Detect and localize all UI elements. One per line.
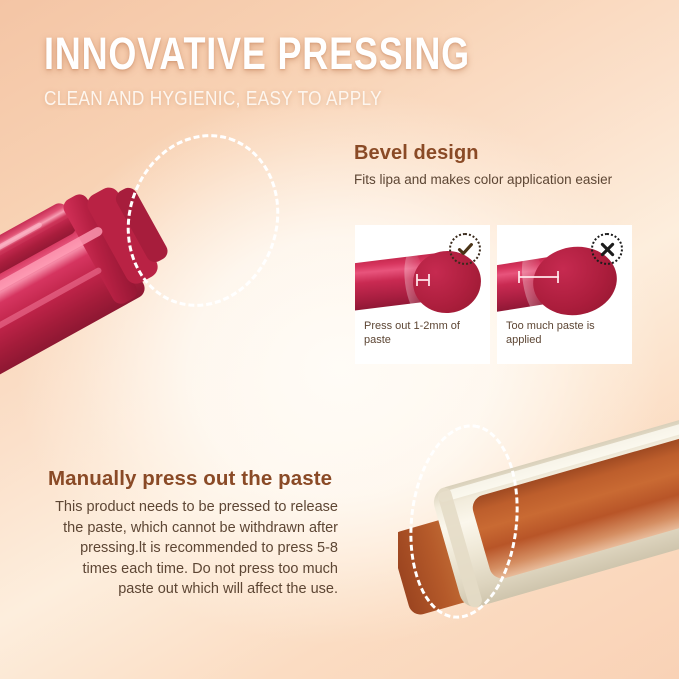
press-instructions-title: Manually press out the paste — [48, 466, 338, 491]
check-glyph — [457, 241, 474, 258]
card-incorrect-usage: Too much paste is applied — [497, 225, 632, 364]
cross-icon — [591, 233, 623, 265]
press-instructions-body: This product needs to be pressed to rele… — [48, 497, 338, 600]
measure-tick-end-right — [557, 271, 559, 283]
page-subtitle: CLEAN AND HYGIENIC, EASY TO APPLY — [44, 87, 560, 111]
measure-tick — [519, 276, 559, 278]
press-instructions-block: Manually press out the paste This produc… — [48, 466, 338, 600]
card-correct-caption: Press out 1-2mm of paste — [364, 320, 486, 347]
header-block: INNOVATIVE PRESSING CLEAN AND HYGIENIC, … — [44, 28, 644, 111]
bevel-design-title: Bevel design — [354, 141, 644, 165]
card-correct-usage: Press out 1-2mm of paste — [355, 225, 490, 364]
cross-glyph — [599, 241, 616, 258]
comparison-cards: Press out 1-2mm of paste Too much paste … — [355, 225, 632, 364]
bevel-design-block: Bevel design Fits lipa and makes color a… — [354, 141, 644, 189]
card-incorrect-caption: Too much paste is applied — [506, 320, 628, 347]
measure-tick-end-right — [428, 274, 430, 286]
bevel-design-description: Fits lipa and makes color application ea… — [354, 171, 644, 189]
page-title: INNOVATIVE PRESSING — [44, 28, 524, 80]
product-infographic: INNOVATIVE PRESSING CLEAN AND HYGIENIC, … — [0, 0, 679, 679]
measure-tick-end-left — [518, 271, 520, 283]
measure-tick-end-left — [416, 274, 418, 286]
check-icon — [449, 233, 481, 265]
